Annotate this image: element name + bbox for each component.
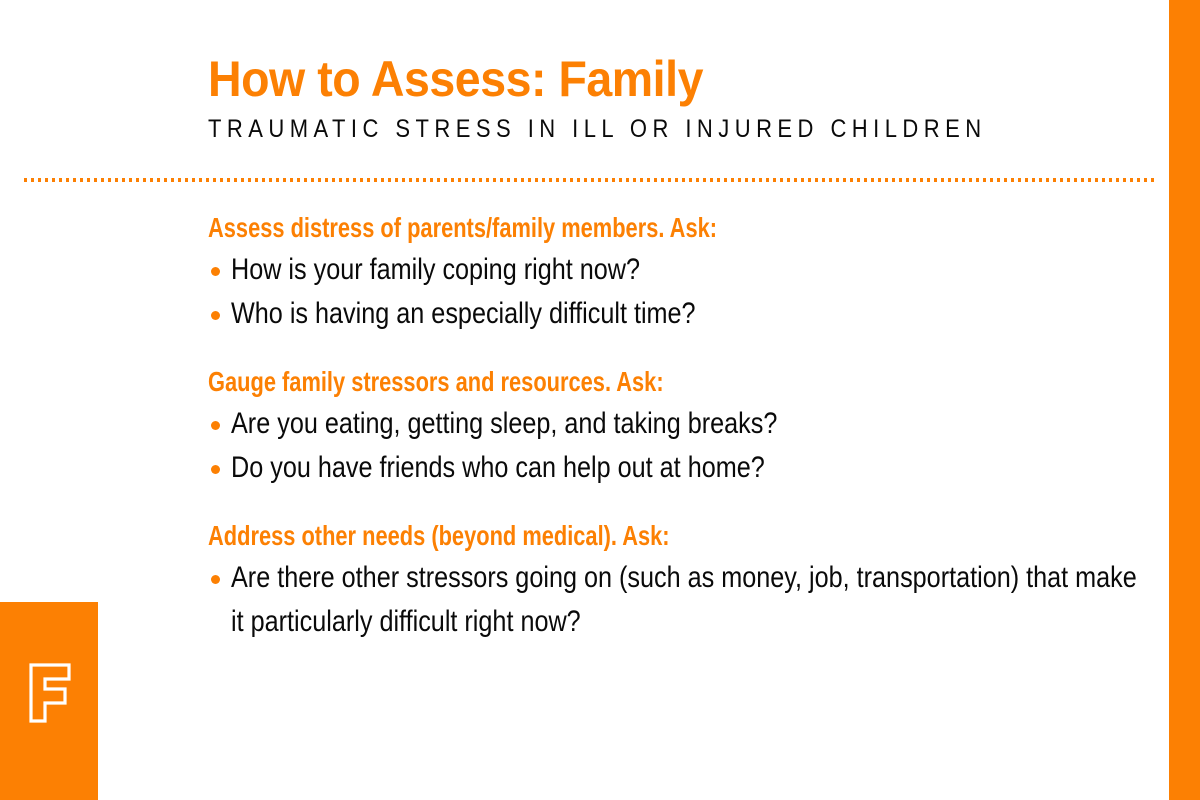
- list-item-text: Do you have friends who can help out at …: [231, 446, 1138, 490]
- list-item-text: Who is having an especially difficult ti…: [231, 292, 1138, 336]
- list-item: Are there other stressors going on (such…: [208, 556, 1138, 644]
- section-heading: Assess distress of parents/family member…: [208, 212, 933, 244]
- logo-block: [0, 602, 98, 800]
- list-item: How is your family coping right now?: [208, 248, 1138, 292]
- section-heading: Address other needs (beyond medical). As…: [208, 520, 933, 552]
- list-item-text: Are you eating, getting sleep, and takin…: [231, 402, 1138, 446]
- section-address-other-needs: Address other needs (beyond medical). As…: [208, 520, 1138, 644]
- page-subtitle: TRAUMATIC STRESS IN ILL OR INJURED CHILD…: [208, 114, 1026, 144]
- section-assess-distress: Assess distress of parents/family member…: [208, 212, 1138, 336]
- list-item-text: Are there other stressors going on (such…: [231, 556, 1138, 644]
- section-gauge-stressors: Gauge family stressors and resources. As…: [208, 366, 1138, 490]
- poster-page: How to Assess: Family TRAUMATIC STRESS I…: [0, 0, 1200, 800]
- page-header: How to Assess: Family TRAUMATIC STRESS I…: [208, 52, 1138, 144]
- list-item: Are you eating, getting sleep, and takin…: [208, 402, 1138, 446]
- right-edge-accent-bar: [1169, 0, 1200, 800]
- list-item-text: How is your family coping right now?: [231, 248, 1138, 292]
- section-heading: Gauge family stressors and resources. As…: [208, 366, 933, 398]
- bullet-list: Are there other stressors going on (such…: [208, 556, 1138, 644]
- content-body: Assess distress of parents/family member…: [208, 212, 1138, 644]
- outlined-f-logo-icon: [28, 662, 72, 729]
- list-item: Do you have friends who can help out at …: [208, 446, 1138, 490]
- dotted-divider: [24, 178, 1156, 182]
- bullet-list: Are you eating, getting sleep, and takin…: [208, 402, 1138, 490]
- bullet-list: How is your family coping right now? Who…: [208, 248, 1138, 336]
- list-item: Who is having an especially difficult ti…: [208, 292, 1138, 336]
- page-title: How to Assess: Family: [208, 52, 1073, 106]
